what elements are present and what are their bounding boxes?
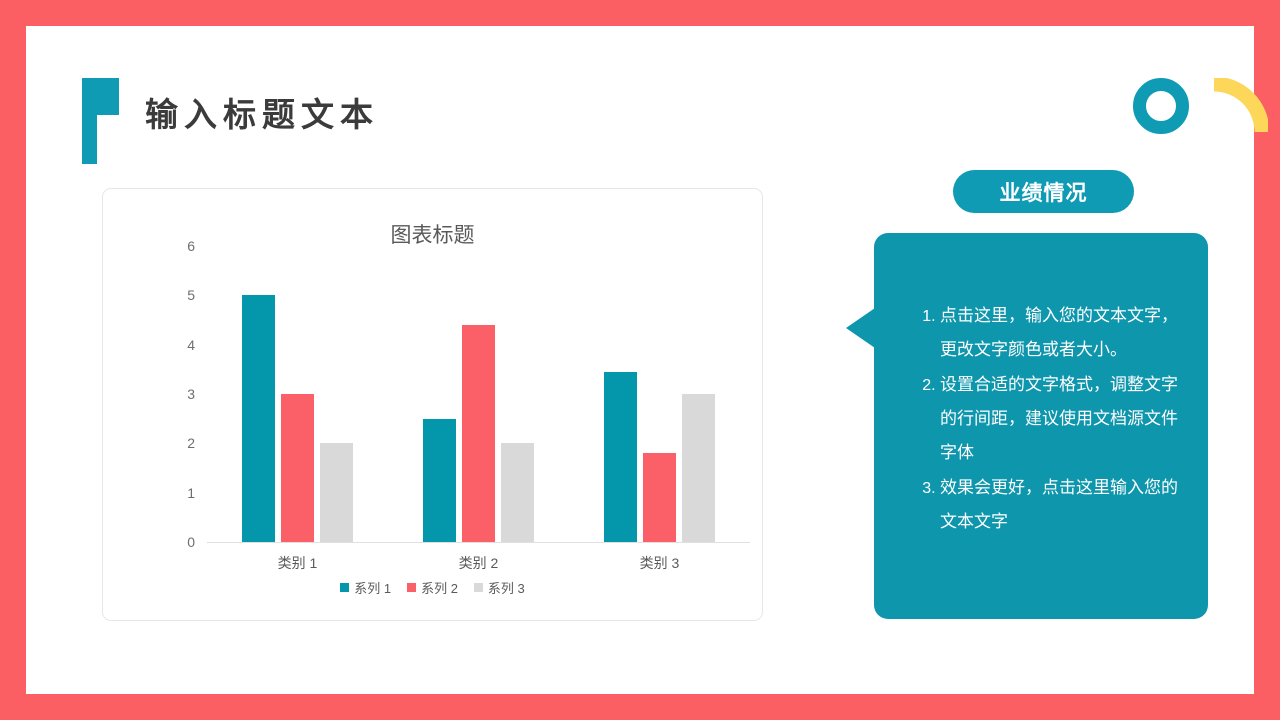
bar bbox=[281, 394, 314, 542]
bar-group bbox=[601, 246, 718, 542]
x-axis-tick-label: 类别 3 bbox=[640, 553, 680, 573]
legend-item[interactable]: 系列 3 bbox=[474, 578, 525, 597]
bar-chart: 6543210 bbox=[167, 246, 750, 542]
bar bbox=[682, 394, 715, 542]
legend-label: 系列 1 bbox=[354, 578, 391, 597]
legend-swatch-icon bbox=[407, 583, 416, 592]
bar bbox=[501, 443, 534, 542]
bar bbox=[242, 295, 275, 542]
bar bbox=[643, 453, 676, 542]
legend-item[interactable]: 系列 2 bbox=[407, 578, 458, 597]
bar bbox=[462, 325, 495, 542]
y-axis-tick: 3 bbox=[187, 387, 195, 401]
chart-card: 图表标题 6543210 类别 1类别 2类别 3 系列 1系列 2系列 3 bbox=[102, 188, 763, 621]
list-item: 设置合适的文字格式，调整文字的行间距，建议使用文档源文件字体 bbox=[940, 368, 1182, 470]
y-axis-tick: 0 bbox=[187, 535, 195, 549]
callout-bubble: 点击这里，输入您的文本文字，更改文字颜色或者大小。设置合适的文字格式，调整文字的… bbox=[874, 233, 1208, 619]
page-title: 输入标题文本 bbox=[145, 88, 379, 136]
plot-area bbox=[207, 246, 750, 543]
flag-mark-icon bbox=[82, 78, 119, 164]
circle-outline-icon bbox=[1133, 78, 1189, 134]
y-axis-tick: 4 bbox=[187, 338, 195, 352]
chart-legend: 系列 1系列 2系列 3 bbox=[103, 578, 762, 597]
bar-group bbox=[420, 246, 537, 542]
chart-title: 图表标题 bbox=[103, 219, 762, 249]
flag-head bbox=[82, 78, 119, 115]
bar-group bbox=[239, 246, 356, 542]
legend-label: 系列 3 bbox=[488, 578, 525, 597]
legend-swatch-icon bbox=[340, 583, 349, 592]
bar bbox=[423, 419, 456, 542]
slide: 输入标题文本 图表标题 6543210 类别 1类别 2类别 3 系列 1系列 … bbox=[0, 0, 1280, 720]
callout-list: 点击这里，输入您的文本文字，更改文字颜色或者大小。设置合适的文字格式，调整文字的… bbox=[906, 299, 1182, 540]
legend-swatch-icon bbox=[474, 583, 483, 592]
bar bbox=[604, 372, 637, 542]
status-badge: 业绩情况 bbox=[953, 170, 1134, 213]
y-axis-tick: 2 bbox=[187, 436, 195, 450]
list-item: 点击这里，输入您的文本文字，更改文字颜色或者大小。 bbox=[940, 299, 1182, 367]
x-axis-tick-label: 类别 1 bbox=[278, 553, 318, 573]
list-item: 效果会更好，点击这里输入您的文本文字 bbox=[940, 471, 1182, 539]
y-axis-tick: 1 bbox=[187, 486, 195, 500]
y-axis-tick: 5 bbox=[187, 288, 195, 302]
legend-label: 系列 2 bbox=[421, 578, 458, 597]
y-axis-tick: 6 bbox=[187, 239, 195, 253]
bubble-tail bbox=[846, 308, 875, 348]
x-axis-labels: 类别 1类别 2类别 3 bbox=[207, 553, 750, 573]
quarter-arc-icon bbox=[1212, 78, 1268, 134]
slide-canvas: 输入标题文本 图表标题 6543210 类别 1类别 2类别 3 系列 1系列 … bbox=[26, 26, 1254, 694]
x-axis-tick-label: 类别 2 bbox=[459, 553, 499, 573]
legend-item[interactable]: 系列 1 bbox=[340, 578, 391, 597]
bar bbox=[320, 443, 353, 542]
y-axis: 6543210 bbox=[167, 246, 201, 542]
